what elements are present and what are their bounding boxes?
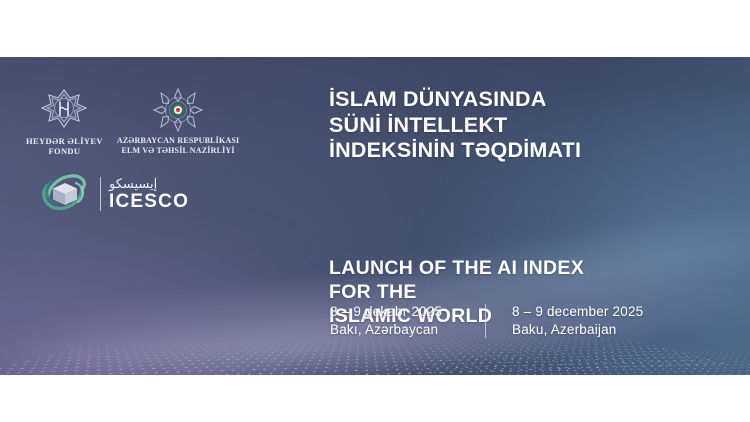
icesco-latin-text: ICESCO	[109, 192, 189, 211]
event-place-english: Baku, Azerbaijan	[512, 321, 712, 339]
event-details: 8 – 9 dekabr 2025 Bakı, Azərbaycan 8 – 9…	[330, 303, 712, 339]
page-root: HEYDƏR ƏLİYEV FONDU	[0, 0, 750, 422]
event-date-azerbaijani: 8 – 9 dekabr 2025	[330, 303, 485, 321]
icesco-orbit-cube-icon	[38, 171, 92, 217]
eight-pointed-star-monogram-icon	[34, 87, 94, 133]
ministry-crest-center	[172, 104, 184, 116]
icesco-cube	[53, 183, 77, 205]
logo-caption-foundation: HEYDƏR ƏLİYEV FONDU	[26, 136, 103, 156]
icesco-divider	[100, 177, 101, 211]
logo-heydar-aliyev-foundation: HEYDƏR ƏLİYEV FONDU	[26, 87, 103, 156]
logo-ministry-science-education: AZƏRBAYCAN RESPUBLİKASI ELM VƏ TƏHSİL NA…	[117, 87, 239, 156]
title-azerbaijani: İSLAM DÜNYASINDA SÜNİ İNTELLEKT İNDEKSİN…	[329, 87, 729, 164]
snowflake-emblem-icon	[147, 87, 209, 133]
event-details-english: 8 – 9 december 2025 Baku, Azerbaijan	[486, 303, 712, 339]
event-place-azerbaijani: Bakı, Azərbaycan	[330, 321, 485, 339]
logo-caption-ministry: AZƏRBAYCAN RESPUBLİKASI ELM VƏ TƏHSİL NA…	[117, 136, 239, 156]
logo-icesco: إيسيسكو ICESCO	[38, 171, 189, 217]
heading-group: İSLAM DÜNYASINDA SÜNİ İNTELLEKT İNDEKSİN…	[329, 87, 729, 328]
event-date-english: 8 – 9 december 2025	[512, 303, 712, 321]
icesco-arabic-text: إيسيسكو	[109, 178, 157, 191]
event-banner: HEYDƏR ƏLİYEV FONDU	[0, 57, 750, 375]
event-details-azerbaijani: 8 – 9 dekabr 2025 Bakı, Azərbaycan	[330, 303, 485, 339]
icesco-wordmark: إيسيسكو ICESCO	[109, 178, 189, 211]
partner-logos: HEYDƏR ƏLİYEV FONDU	[26, 87, 239, 156]
